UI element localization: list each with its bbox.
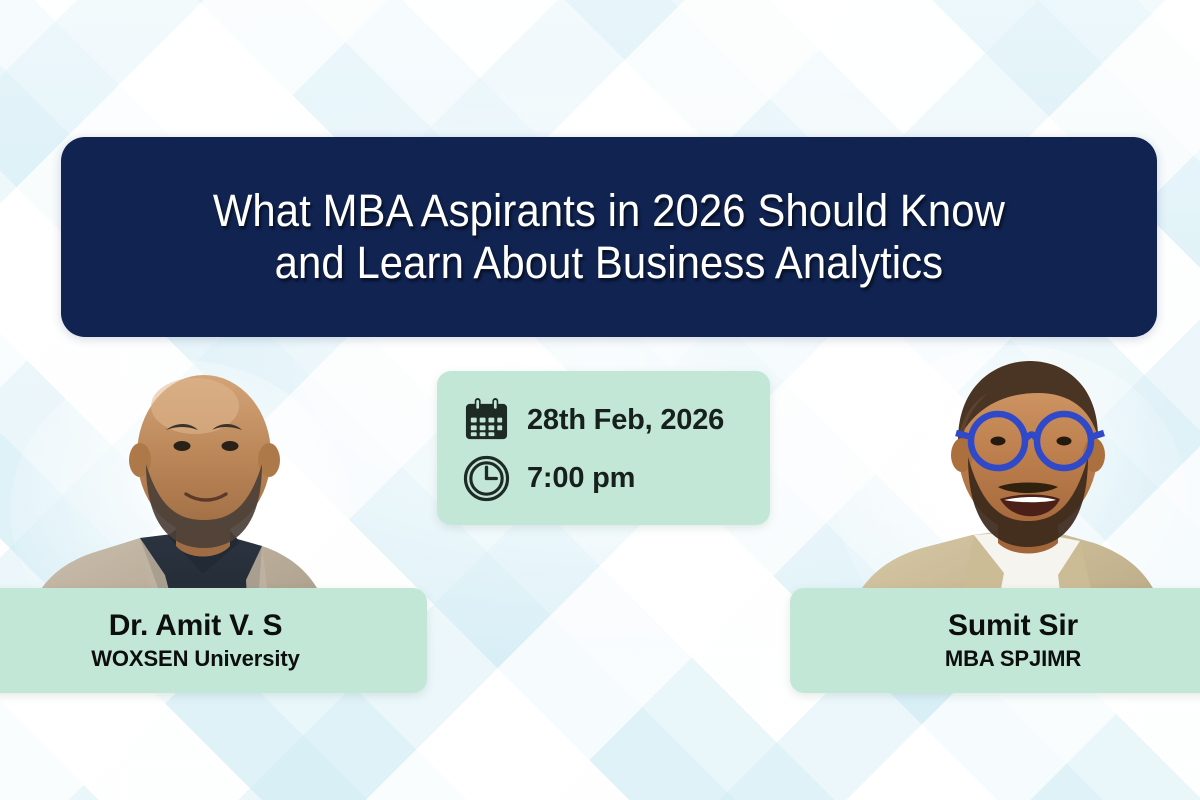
speaker-organization: MBA SPJIMR [945, 645, 1081, 673]
calendar-icon [463, 397, 510, 444]
page-title: What MBA Aspirants in 2026 Should Know a… [189, 185, 1030, 289]
clock-icon [463, 455, 510, 502]
event-details-card: 28th Feb, 2026 7:00 pm [437, 371, 770, 525]
event-date: 28th Feb, 2026 [527, 404, 724, 437]
speaker-name-plate-left: Dr. Amit V. S WOXSEN University [0, 588, 427, 693]
title-banner: What MBA Aspirants in 2026 Should Know a… [61, 137, 1157, 337]
event-time: 7:00 pm [527, 462, 635, 495]
speaker-name-plate-right: Sumit Sir MBA SPJIMR [790, 588, 1200, 693]
event-time-row: 7:00 pm [463, 449, 770, 507]
event-date-row: 28th Feb, 2026 [463, 391, 770, 449]
webinar-poster: What MBA Aspirants in 2026 Should Know a… [0, 0, 1200, 800]
speaker-name: Sumit Sir [948, 608, 1078, 643]
speaker-organization: WOXSEN University [91, 645, 300, 673]
speaker-name: Dr. Amit V. S [109, 608, 283, 643]
